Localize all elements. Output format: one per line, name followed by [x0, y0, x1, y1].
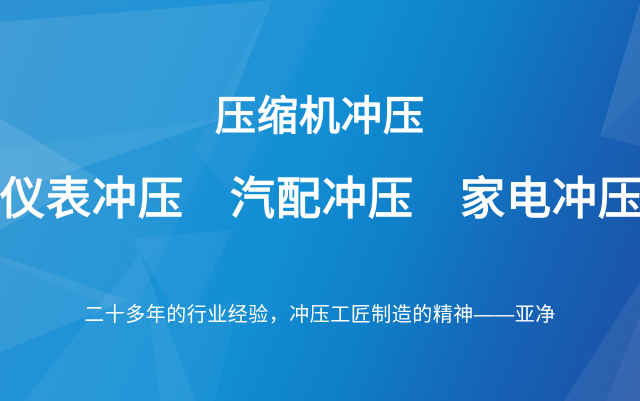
headline-primary: 压缩机冲压	[0, 96, 640, 137]
banner-tagline: 二十多年的行业经验，冲压工匠制造的精神——亚净	[0, 303, 640, 327]
headline-secondary: 仪表冲压 汽配冲压 家电冲压	[0, 176, 640, 221]
banner-content: 压缩机冲压 仪表冲压 汽配冲压 家电冲压 二十多年的行业经验，冲压工匠制造的精神…	[0, 0, 640, 401]
promotional-banner: 压缩机冲压 仪表冲压 汽配冲压 家电冲压 二十多年的行业经验，冲压工匠制造的精神…	[0, 0, 640, 401]
